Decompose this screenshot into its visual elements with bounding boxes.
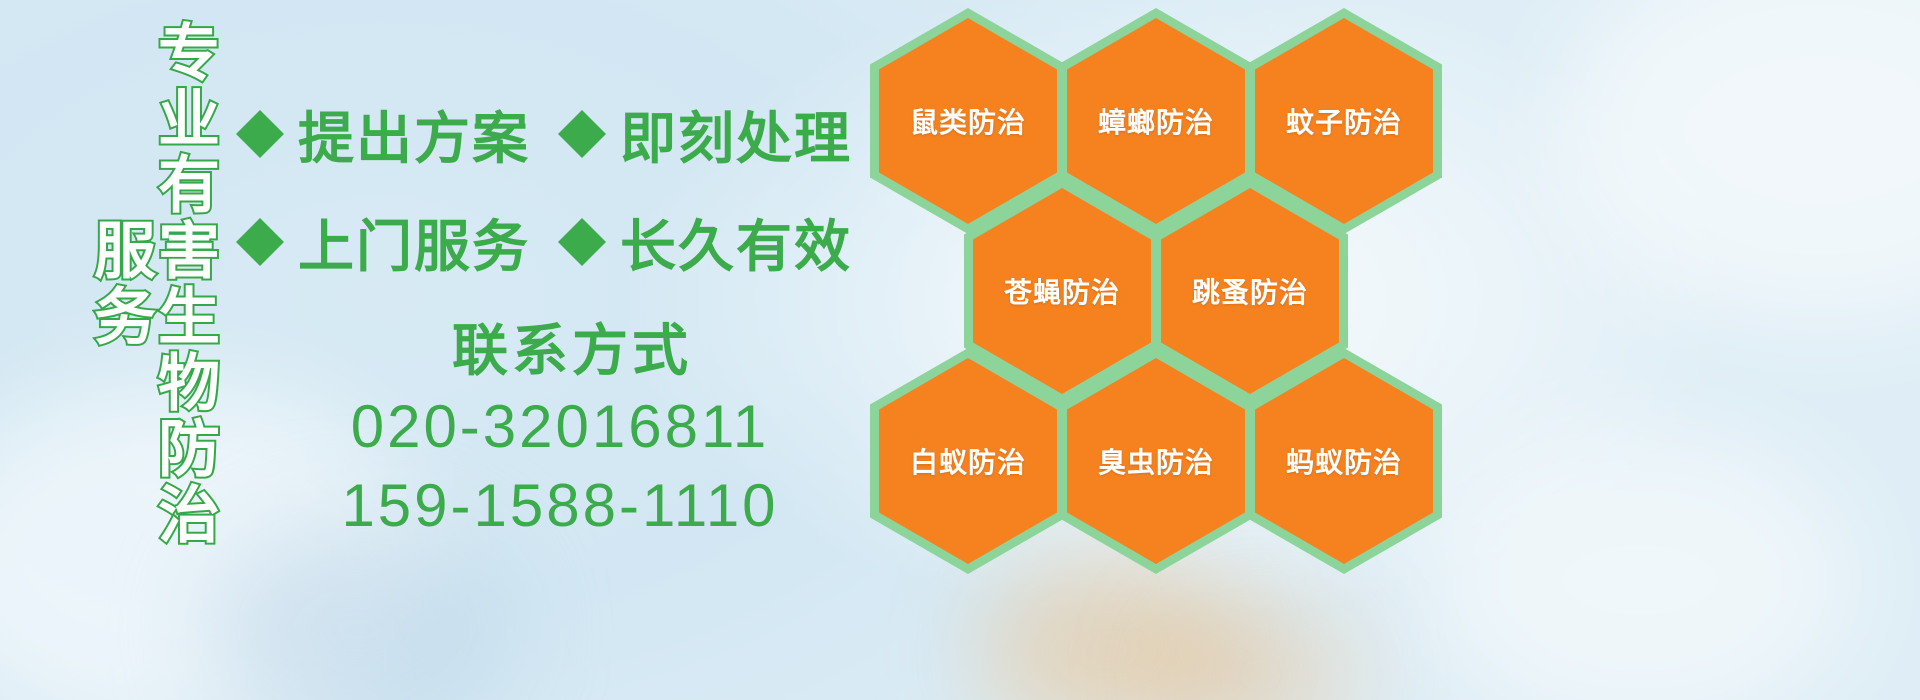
service-hexagon-grid: 鼠类防治 蟑螂防治 蚊子防治 苍蝇防治 跳蚤防治 白蚁防治	[862, 0, 1482, 600]
contact-block: 联系方式 020-32016811 159-1588-1110	[300, 306, 820, 545]
background-blur-blob	[1160, 600, 1360, 700]
pest-control-banner: 专业有害生物防治服务 提出方案 即刻处理 上门服务 长久有效	[0, 0, 1920, 700]
service-label: 蟑螂防治	[1098, 101, 1214, 141]
hex-inner: 蚊子防治	[1255, 18, 1433, 224]
feature-list: 提出方案 即刻处理 上门服务 长久有效	[236, 80, 876, 296]
service-label: 臭虫防治	[1098, 441, 1214, 481]
service-label: 白蚁防治	[910, 441, 1026, 481]
contact-title: 联系方式	[324, 306, 820, 387]
service-label: 蚂蚁防治	[1286, 441, 1402, 481]
hex-inner: 鼠类防治	[879, 18, 1057, 224]
feature-label: 上门服务	[298, 202, 530, 283]
hex-inner: 白蚁防治	[879, 358, 1057, 564]
feature-label: 即刻处理	[620, 94, 852, 175]
feature-item-immediate-handling: 即刻处理	[558, 94, 852, 175]
diamond-bullet-icon	[558, 194, 606, 242]
hex-inner: 苍蝇防治	[973, 188, 1151, 394]
service-label: 蚊子防治	[1286, 101, 1402, 141]
phone-mobile[interactable]: 159-1588-1110	[300, 466, 820, 545]
service-label: 跳蚤防治	[1192, 271, 1308, 311]
diamond-bullet-icon	[236, 86, 284, 134]
feature-item-propose-plan: 提出方案	[236, 94, 530, 175]
feature-item-long-lasting: 长久有效	[558, 202, 852, 283]
hex-inner: 臭虫防治	[1067, 358, 1245, 564]
diamond-bullet-icon	[236, 194, 284, 242]
vertical-headline: 专业有害生物防治服务	[104, 14, 214, 554]
feature-label: 提出方案	[298, 94, 530, 175]
phone-landline[interactable]: 020-32016811	[300, 387, 820, 466]
background-blur-blob	[210, 520, 510, 700]
feature-label: 长久有效	[620, 202, 852, 283]
background-blur-blob	[1430, 430, 1850, 700]
hex-inner: 跳蚤防治	[1161, 188, 1339, 394]
service-label: 苍蝇防治	[1004, 271, 1120, 311]
feature-row-1: 提出方案 即刻处理	[236, 80, 876, 188]
hex-inner: 蟑螂防治	[1067, 18, 1245, 224]
background-blur-blob	[1560, 0, 1920, 320]
feature-item-onsite-service: 上门服务	[236, 202, 530, 283]
diamond-bullet-icon	[558, 86, 606, 134]
hex-inner: 蚂蚁防治	[1255, 358, 1433, 564]
service-label: 鼠类防治	[910, 101, 1026, 141]
feature-row-2: 上门服务 长久有效	[236, 188, 876, 296]
